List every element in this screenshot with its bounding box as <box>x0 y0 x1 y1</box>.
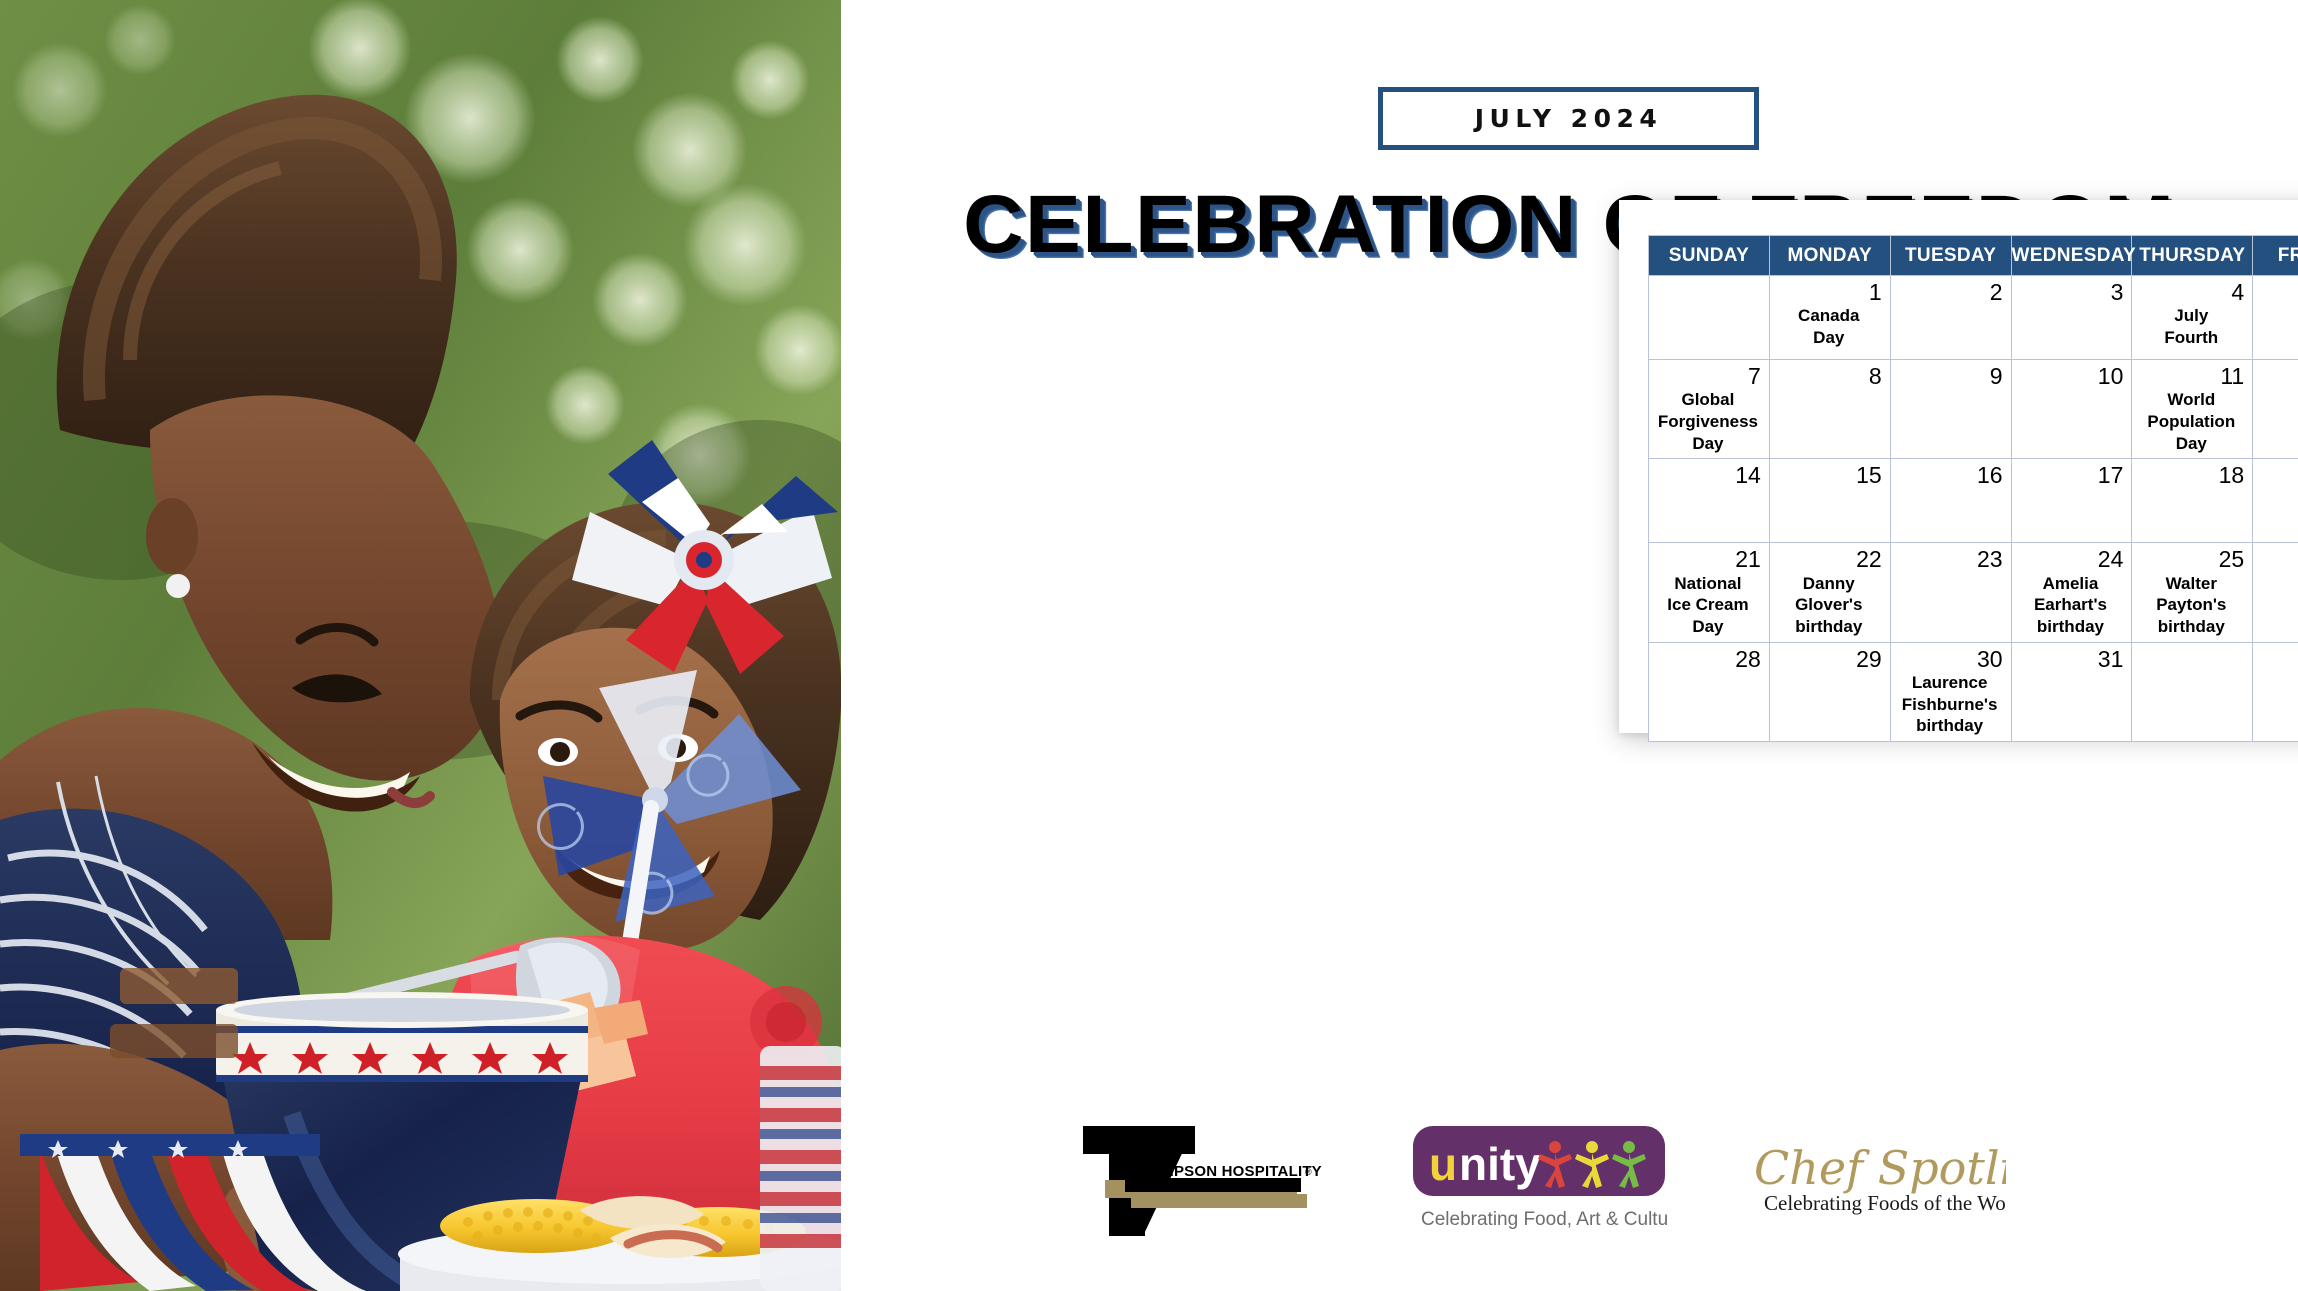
calendar-day-cell[interactable]: 17 <box>2011 459 2132 543</box>
day-event-label: NationalIce CreamDay <box>1655 573 1761 638</box>
day-number: 1 <box>1776 280 1882 304</box>
calendar-day-cell[interactable]: 18 <box>2132 459 2253 543</box>
month-title-label: JULY 2024 <box>1475 104 1663 133</box>
calendar-page: JULY 2024 CELEBRATION OF FREEDOM SUNDAY … <box>0 0 2298 1291</box>
day-number: 28 <box>1655 647 1761 671</box>
day-number: 22 <box>1776 547 1882 571</box>
calendar-day-cell[interactable]: 4JulyFourth <box>2132 276 2253 360</box>
day-event-label: DannyGlover'sbirthday <box>1776 573 1882 638</box>
calendar-empty-cell <box>1649 276 1770 360</box>
unity-mark: u nity <box>1411 1124 1667 1236</box>
calendar-header-row: SUNDAY MONDAY TUESDAY WEDNESDAY THURSDAY… <box>1649 236 2298 276</box>
day-header-monday: MONDAY <box>1769 236 1890 276</box>
calendar-day-cell[interactable]: 31 <box>2011 642 2132 741</box>
day-number: 11 <box>2138 364 2244 388</box>
calendar-day-cell[interactable]: 30LaurenceFishburne'sbirthday <box>1890 642 2011 741</box>
day-number: 24 <box>2018 547 2124 571</box>
calendar-day-cell[interactable]: 14 <box>1649 459 1770 543</box>
day-number: 18 <box>2138 463 2244 487</box>
day-number: 5 <box>2259 280 2298 304</box>
chef-spotlight-tagline: Celebrating Foods of the World <box>1764 1191 2006 1215</box>
logo-row: THOMPSON HOSPITALITY ® u nity <box>841 1108 2298 1258</box>
calendar-empty-cell <box>2253 642 2298 741</box>
calendar-empty-cell <box>2132 642 2253 741</box>
day-number: 29 <box>1776 647 1882 671</box>
calendar-day-cell[interactable]: 22DannyGlover'sbirthday <box>1769 543 1890 642</box>
calendar-day-cell[interactable]: 8 <box>1769 360 1890 459</box>
thompson-hospitality-wordmark: THOMPSON HOSPITALITY <box>1129 1163 1322 1180</box>
calendar-week-row: 21NationalIce CreamDay22DannyGlover'sbir… <box>1649 543 2298 642</box>
calendar-week-row: 7GlobalForgivenessDay891011WorldPopulati… <box>1649 360 2298 459</box>
day-number: 16 <box>1897 463 2003 487</box>
day-header-thursday: THURSDAY <box>2132 236 2253 276</box>
day-header-wednesday: WEDNESDAY <box>2011 236 2132 276</box>
calendar-day-cell[interactable]: 2 <box>1890 276 2011 360</box>
day-number: 31 <box>2018 647 2124 671</box>
calendar-day-cell[interactable]: 15 <box>1769 459 1890 543</box>
day-event-label: WalterPayton'sbirthday <box>2138 573 2244 638</box>
calendar-week-row: 14151617181920 <box>1649 459 2298 543</box>
day-event-label: AmeliaEarhart'sbirthday <box>2018 573 2124 638</box>
day-number: 23 <box>1897 547 2003 571</box>
unity-tagline: Celebrating Food, Art & Culture <box>1421 1209 1667 1230</box>
calendar-day-cell[interactable]: 28 <box>1649 642 1770 741</box>
calendar-table: SUNDAY MONDAY TUESDAY WEDNESDAY THURSDAY… <box>1648 235 2298 742</box>
day-event-label: LaurenceFishburne'sbirthday <box>1897 672 2003 737</box>
day-number: 8 <box>1776 364 1882 388</box>
day-number: 4 <box>2138 280 2244 304</box>
thompson-hospitality-mark: THOMPSON HOSPITALITY ® <box>1069 1118 1329 1240</box>
calendar-day-cell[interactable]: 29 <box>1769 642 1890 741</box>
day-number: 30 <box>1897 647 2003 671</box>
calendar-day-cell[interactable]: 7GlobalForgivenessDay <box>1649 360 1770 459</box>
calendar-day-cell[interactable]: 1CanadaDay <box>1769 276 1890 360</box>
day-event-label: GlobalForgivenessDay <box>1655 389 1761 454</box>
thompson-hospitality-logo: THOMPSON HOSPITALITY ® <box>1069 1118 1329 1240</box>
unity-wordmark-u: u <box>1429 1138 1457 1190</box>
calendar-day-cell[interactable]: 26 <box>2253 543 2298 642</box>
hero-photo <box>0 0 841 1291</box>
hero-photo-illustration <box>0 0 841 1291</box>
month-title-box: JULY 2024 <box>1378 87 1759 150</box>
day-number: 10 <box>2018 364 2124 388</box>
calendar-day-cell[interactable]: 9 <box>1890 360 2011 459</box>
day-number: 7 <box>1655 364 1761 388</box>
day-number: 9 <box>1897 364 2003 388</box>
calendar-day-cell[interactable]: 21NationalIce CreamDay <box>1649 543 1770 642</box>
registered-trademark-icon: ® <box>1305 1167 1312 1177</box>
day-number: 2 <box>1897 280 2003 304</box>
calendar-body: 1CanadaDay234JulyFourth567GlobalForgiven… <box>1649 276 2298 742</box>
day-number: 17 <box>2018 463 2124 487</box>
chef-spotlight-mark: Chef Spotlight Celebrating Foods of the … <box>1746 1134 2006 1234</box>
calendar-week-row: 1CanadaDay234JulyFourth56 <box>1649 276 2298 360</box>
day-number: 21 <box>1655 547 1761 571</box>
calendar-day-cell[interactable]: 25WalterPayton'sbirthday <box>2132 543 2253 642</box>
unity-logo: u nity <box>1411 1124 1667 1236</box>
day-header-friday: FRIDAY <box>2253 236 2298 276</box>
day-number: 15 <box>1776 463 1882 487</box>
day-number: 25 <box>2138 547 2244 571</box>
calendar-day-cell[interactable]: 12 <box>2253 360 2298 459</box>
day-header-sunday: SUNDAY <box>1649 236 1770 276</box>
calendar-week-row: 282930LaurenceFishburne'sbirthday31 <box>1649 642 2298 741</box>
calendar-day-cell[interactable]: 5 <box>2253 276 2298 360</box>
day-event-label: JulyFourth <box>2138 305 2244 349</box>
calendar-panel: JULY 2024 CELEBRATION OF FREEDOM SUNDAY … <box>841 0 2298 1291</box>
chef-spotlight-wordmark: Chef Spotlight <box>1754 1141 2006 1195</box>
calendar-day-cell[interactable]: 11WorldPopulationDay <box>2132 360 2253 459</box>
day-event-label: CanadaDay <box>1776 305 1882 349</box>
chef-spotlight-logo: Chef Spotlight Celebrating Foods of the … <box>1746 1134 2006 1234</box>
calendar-day-cell[interactable]: 23 <box>1890 543 2011 642</box>
calendar-day-cell[interactable]: 19 <box>2253 459 2298 543</box>
day-header-tuesday: TUESDAY <box>1890 236 2011 276</box>
calendar-card: SUNDAY MONDAY TUESDAY WEDNESDAY THURSDAY… <box>1619 200 2298 733</box>
day-number: 19 <box>2259 463 2298 487</box>
day-number: 12 <box>2259 364 2298 388</box>
calendar-day-cell[interactable]: 16 <box>1890 459 2011 543</box>
calendar-day-cell[interactable]: 3 <box>2011 276 2132 360</box>
calendar-day-cell[interactable]: 24AmeliaEarhart'sbirthday <box>2011 543 2132 642</box>
day-event-label: WorldPopulationDay <box>2138 389 2244 454</box>
calendar-day-cell[interactable]: 10 <box>2011 360 2132 459</box>
day-number: 26 <box>2259 547 2298 571</box>
day-number: 3 <box>2018 280 2124 304</box>
unity-wordmark-nity: nity <box>1459 1138 1541 1190</box>
day-number: 14 <box>1655 463 1761 487</box>
